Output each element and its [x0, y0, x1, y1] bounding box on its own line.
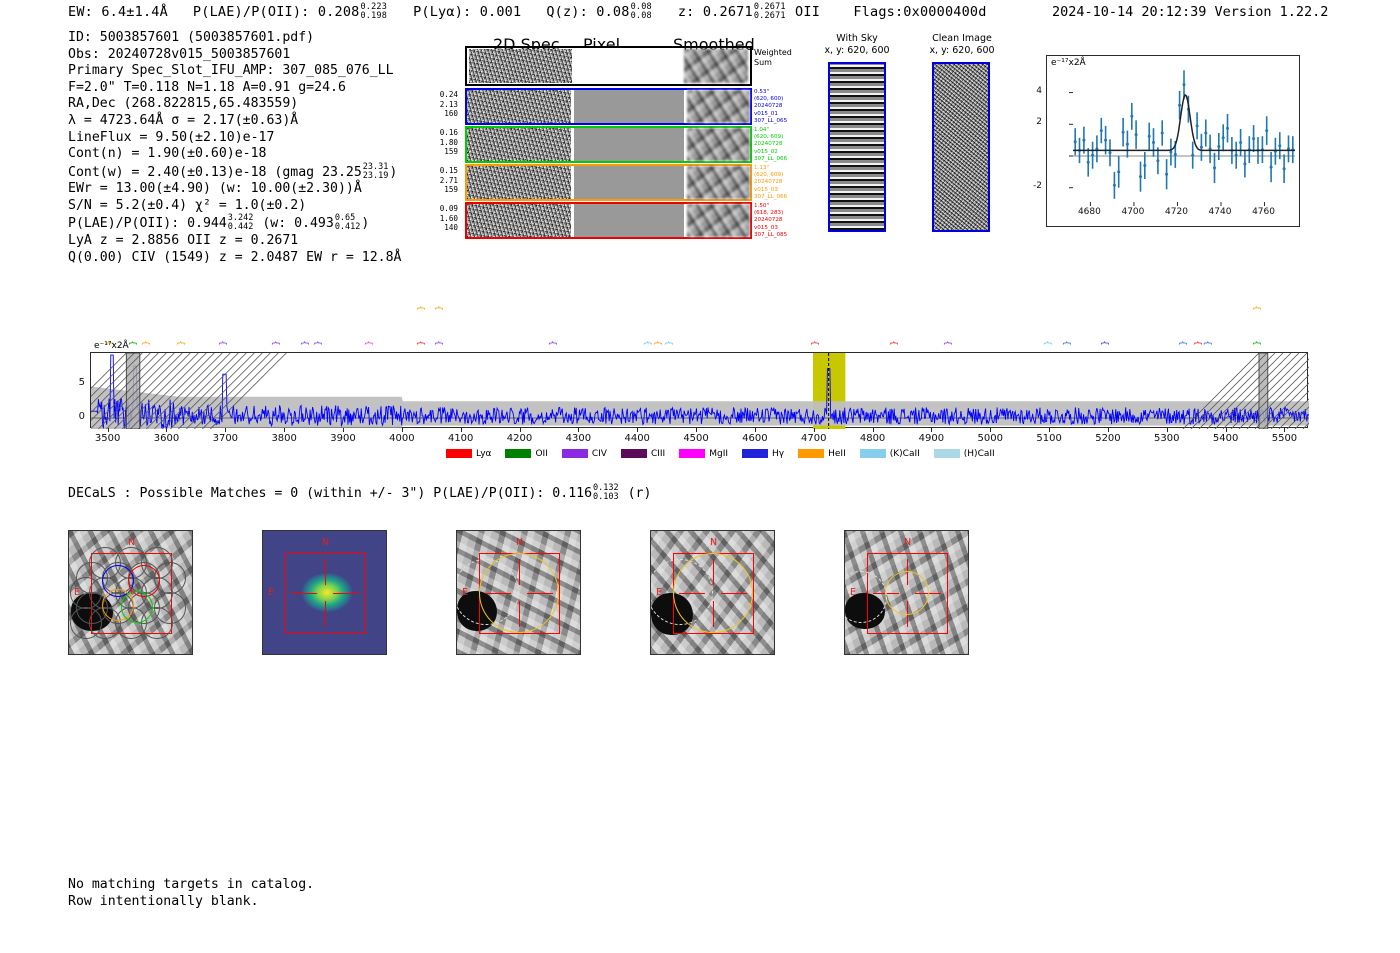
info-primary-spec: Primary Spec_Slot_IFU_AMP: 307_085_076_L…: [68, 63, 401, 80]
spectrum-xtick-mark: [696, 428, 697, 432]
spectrum-xtick-mark: [1167, 428, 1168, 432]
spectrum-legend-item: MgII: [679, 449, 728, 459]
cutout-aperture-circle: [885, 571, 929, 615]
spectrum-line-brace: {: [299, 340, 309, 346]
spectrum-line-brace: {: [312, 340, 322, 346]
fiber-metadata-line: 20240728: [754, 217, 787, 224]
fiber-metadata-line: 307_LL_085: [754, 232, 787, 239]
fiber-stat-value: 140: [432, 223, 458, 233]
spectrum-xtick-mark: [578, 428, 579, 432]
spectrum-xtick-mark: [1049, 428, 1050, 432]
zoom-plot-xtick: 4740: [1206, 207, 1234, 217]
spectrum-legend-item: OII: [505, 449, 547, 459]
spectrum-legend-item: CIII: [621, 449, 665, 459]
cutout-crosshair-h-left: [291, 593, 317, 594]
fiber-stats: 0.242.13160: [432, 90, 458, 119]
footer-note: No matching targets in catalog. Row inte…: [68, 876, 314, 910]
fiber-metadata-line: 1.50": [754, 203, 787, 210]
fiber-2dspec-image: [467, 166, 571, 199]
spectrum-xtick-mark: [814, 428, 815, 432]
fiber-metadata-line: (620, 600): [754, 96, 787, 103]
spectrum-xtick-mark: [108, 428, 109, 432]
spectrum-legend-swatch: [505, 449, 531, 458]
flags-value: Flags:0x0000400d: [853, 4, 986, 20]
fiber-metadata-line: 20240728: [754, 179, 787, 186]
spectrum-line-brace: {: [1177, 340, 1187, 346]
plae-lo: 0.198: [360, 11, 387, 21]
info-cont-w-pre: Cont(w) = 2.40(±0.13)e-18 (gmag 23.25: [68, 165, 362, 180]
clean-image-title: Clean Image x, y: 620, 600: [912, 33, 1012, 57]
fiber-metadata-line: 307_LL_066: [754, 156, 787, 163]
spectrum-line-brace: {: [662, 340, 672, 346]
fiber-metadata-line: 20240728: [754, 141, 787, 148]
spectrum-legend-swatch: [621, 449, 647, 458]
cutout-image[interactable]: NE: [844, 530, 969, 655]
zoom-plot-xtick: 4700: [1119, 207, 1147, 217]
spectrum-legend-label: (K)CaII: [890, 449, 920, 459]
spectrum-line-brace: {: [1061, 340, 1071, 346]
cutout-neighbor-circle: [650, 559, 713, 625]
info-sn: S/N = 5.2(±0.4) χ² = 1.0(±0.2): [68, 198, 401, 215]
spectrum-xtick: 3500: [86, 433, 130, 444]
zoom-plot-yunit: e⁻¹⁷x2Å: [1051, 58, 1086, 68]
fiber-metadata-line: 307_LL_065: [754, 118, 787, 125]
spectrum-legend-label: (H)CaII: [964, 449, 995, 459]
with-sky-image: [828, 62, 886, 232]
spectrum-line-brace: {: [1098, 340, 1108, 346]
fiber-stat-value: 0.24: [432, 90, 458, 100]
info-cont-w: Cont(w) = 2.40(±0.13)e-18 (gmag 23.2523.…: [68, 163, 401, 182]
spectrum-legend-item: (H)CaII: [934, 449, 995, 459]
fiber-pixelflat-image: [574, 204, 684, 237]
plae-value: 0.208: [318, 4, 360, 20]
spectrum-line-brace: {: [269, 340, 279, 346]
decals-summary-lo: 0.103: [593, 492, 619, 502]
fiber-stats: 0.161.80159: [432, 128, 458, 157]
fiber-metadata-line: v015_03: [754, 225, 787, 232]
zoom-plot-ytick: 2: [1026, 117, 1042, 127]
spectrum-line-brace: {: [1192, 340, 1202, 346]
fiber-stats: 0.152.71159: [432, 166, 458, 195]
cutout-north-label: N: [710, 537, 717, 548]
spectrum-xtick: 3600: [144, 433, 188, 444]
spectrum-line-brace: {: [432, 305, 442, 311]
fiber-stat-value: 2.13: [432, 100, 458, 110]
timestamp-version: 2024-10-14 20:12:39 Version 1.22.2: [1052, 4, 1328, 20]
fiber-metadata-line: v015_03: [754, 187, 787, 194]
fiber-stats: 0.091.60140: [432, 204, 458, 233]
spectrum-legend-swatch: [742, 449, 768, 458]
fiber-metadata-line: (618, 283): [754, 210, 787, 217]
spectrum-xtick: 5100: [1027, 433, 1071, 444]
spectrum-line-brace: {: [1251, 340, 1261, 346]
fiber-panel: [465, 88, 752, 125]
zoom-plot-xtick: 4760: [1250, 207, 1278, 217]
info-cont-n: Cont(n) = 1.90(±0.60)e-18: [68, 146, 401, 163]
spectrum-xtick-mark: [931, 428, 932, 432]
spectrum-legend-swatch: [446, 449, 472, 458]
spectrum-legend-item: Lyα: [446, 449, 491, 459]
spectrum-line-brace: {: [415, 305, 425, 311]
cutout-crosshair-h-right: [333, 593, 359, 594]
spectrum-legend-label: Hγ: [772, 449, 784, 459]
clean-image-subtitle: x, y: 620, 600: [912, 45, 1012, 57]
cutout-east-label: E: [268, 587, 274, 598]
spectrum-xtick-mark: [1284, 428, 1285, 432]
spectrum-line-brace: {: [432, 340, 442, 346]
spectrum-xtick: 5200: [1086, 433, 1130, 444]
cutout-crosshair-v-bot: [325, 601, 326, 627]
qz-label: Q(z):: [546, 4, 588, 20]
with-sky-subtitle: x, y: 620, 600: [812, 45, 902, 57]
fiber-pixelflat-image: [574, 128, 684, 161]
spectrum-legend-label: HeII: [828, 449, 846, 459]
spectrum-yunit: e⁻¹⁷x2Å: [94, 341, 129, 351]
cutout-north-label: N: [904, 537, 911, 548]
info-lambda: λ = 4723.64Å σ = 2.17(±0.63)Å: [68, 113, 401, 130]
spectrum-xtick-mark: [873, 428, 874, 432]
info-plae: P(LAE)/P(OII): 0.9443.2420.442 (w: 0.493…: [68, 214, 401, 233]
spectrum-ytick: 0: [72, 411, 85, 422]
qz-value: 0.08: [596, 4, 629, 20]
emission-line-zoom-plot: e⁻¹⁷x2Å: [1046, 55, 1300, 227]
fiber-metadata: 1.04"(620, 609)20240728v015_02307_LL_066: [754, 127, 787, 163]
spectrum-legend-label: Lyα: [476, 449, 491, 459]
ew-value: 6.4±1.4Å: [101, 4, 168, 20]
spectrum-legend-label: CIII: [651, 449, 665, 459]
spectrum-legend-item: Hγ: [742, 449, 784, 459]
spectrum-legend-item: (K)CaII: [860, 449, 920, 459]
spectrum-legend-swatch: [860, 449, 886, 458]
fiber-stat-value: 1.80: [432, 138, 458, 148]
spectrum-xtick: 3700: [203, 433, 247, 444]
fiber-smoothed-image: [687, 166, 750, 199]
info-cont-w-post: ): [389, 165, 397, 180]
spectrum-line-brace: {: [363, 340, 373, 346]
fiber-metadata-line: (620, 609): [754, 134, 787, 141]
decals-summary-line: DECaLS : Possible Matches = 0 (within +/…: [68, 484, 651, 502]
cutout-north-label: N: [516, 537, 523, 548]
info-obs: Obs: 20240728v015_5003857601: [68, 47, 401, 64]
spectrum-xtick-mark: [166, 428, 167, 432]
fiber-metadata-line: 20240728: [754, 103, 787, 110]
spectrum-xtick-mark: [343, 428, 344, 432]
cutout-north-label: N: [322, 537, 329, 548]
cutout-image[interactable]: NE: [650, 530, 775, 655]
fiber-stat-value: 2.71: [432, 176, 458, 186]
z-value: 0.2671: [703, 4, 753, 20]
spectrum-xtick: 5500: [1262, 433, 1306, 444]
info-plae-post: ): [361, 216, 369, 231]
clean-image-title-text: Clean Image: [912, 33, 1012, 45]
fiber-2dspec-image: [467, 204, 571, 237]
fiber-panel: [465, 164, 752, 201]
fiber-metadata: 1.50"(618, 283)20240728v015_03307_LL_085: [754, 203, 787, 239]
spectrum-legend-label: MgII: [709, 449, 728, 459]
spectrum-xtick-mark: [284, 428, 285, 432]
cutout-image[interactable]: NE+: [68, 530, 193, 655]
info-redshifts: LyA z = 2.8856 OII z = 0.2671: [68, 233, 401, 250]
full-spectrum-plot: e⁻¹⁷x2Å: [90, 352, 1308, 428]
spectrum-line-brace: {: [1202, 340, 1212, 346]
zoom-plot-ytick: 4: [1026, 86, 1042, 96]
spectrum-legend: LyαOIICIVCIIIMgIIHγHeII(K)CaII(H)CaII: [446, 443, 1009, 462]
spectrum-xtick: 3900: [321, 433, 365, 444]
fiber-smoothed-image: [687, 128, 750, 161]
info-q-line: Q(0.00) CIV (1549) z = 2.0487 EW r = 12.…: [68, 250, 401, 267]
clean-image: [932, 62, 990, 232]
z-type: OII: [795, 4, 820, 20]
fiber-metadata-line: v015_01: [754, 111, 787, 118]
footer-line-1: No matching targets in catalog.: [68, 876, 314, 893]
qz-lo: 0.08: [631, 11, 652, 21]
spectrum-line-brace: {: [652, 340, 662, 346]
fiber-stat-value: 159: [432, 185, 458, 195]
fiber-metadata-line: 1.13": [754, 165, 787, 172]
spectrum-legend-swatch: [798, 449, 824, 458]
spectrum-xtick-mark: [637, 428, 638, 432]
decals-summary-pre: DECaLS : Possible Matches = 0 (within +/…: [68, 486, 592, 501]
header-summary-line: EW: 6.4±1.4Å P(LAE)/P(OII): 0.2080.2230.…: [68, 3, 987, 21]
fiber-pixelflat-image: [574, 166, 684, 199]
cutout-center-marker: +: [128, 587, 136, 597]
fiber-panel: [465, 202, 752, 239]
ew-label: EW:: [68, 4, 93, 20]
spectrum-legend-swatch: [934, 449, 960, 458]
cutout-neighbor-circle: [456, 559, 519, 625]
spectrum-line-brace: {: [942, 340, 952, 346]
fiber-stat-value: 159: [432, 147, 458, 157]
fiber-metadata-line: v015_02: [754, 149, 787, 156]
zoom-plot-xtick: 4680: [1075, 207, 1103, 217]
fiber-metadata: 0.53"(620, 600)20240728v015_01307_LL_065: [754, 89, 787, 125]
spectrum-ytick: 5: [72, 377, 85, 388]
fiber-2dspec-image: [467, 90, 571, 123]
fiber-stat-value: 0.09: [432, 204, 458, 214]
fiber-2dspec-image: [467, 128, 571, 161]
spectrum-xtick: 4000: [380, 433, 424, 444]
spectrum-legend-label: OII: [535, 449, 547, 459]
info-plae-lo: 0.442: [228, 222, 254, 232]
fiber-stat-value: 0.15: [432, 166, 458, 176]
fiber-metadata-line: 1.04": [754, 127, 787, 134]
plae-label: P(LAE)/P(OII):: [193, 4, 310, 20]
info-seeing: F=2.0" T=0.118 N=1.18 A=0.91 g=24.6: [68, 80, 401, 97]
with-sky-title-text: With Sky: [812, 33, 902, 45]
spectrum-line-brace: {: [415, 340, 425, 346]
fiber-stat-value: 160: [432, 109, 458, 119]
spectrum-legend-item: CIV: [562, 449, 607, 459]
fiber-pixelflat-image: [574, 90, 684, 123]
spectrum-xtick-mark: [402, 428, 403, 432]
weighted-sum-label: Weighted Sum: [754, 48, 792, 68]
spectrum-xtick-mark: [1226, 428, 1227, 432]
fiber-stat-value: 1.60: [432, 214, 458, 224]
spectrum-line-brace: {: [1042, 340, 1052, 346]
fiber-smoothed-image: [687, 90, 750, 123]
with-sky-title: With Sky x, y: 620, 600: [812, 33, 902, 57]
fiber-metadata-line: 0.53": [754, 89, 787, 96]
zoom-plot-xtick: 4720: [1162, 207, 1190, 217]
decals-summary-post: (r): [628, 486, 652, 501]
footer-line-2: Row intentionally blank.: [68, 893, 314, 910]
z-label: z:: [678, 4, 695, 20]
weighted-sum-label-l1: Weighted: [754, 48, 792, 58]
spectrum-line-brace: {: [888, 340, 898, 346]
fiber-metadata-line: (620, 609): [754, 172, 787, 179]
info-cont-w-lo: 23.19: [363, 171, 389, 181]
spectrum-line-brace: {: [1251, 305, 1261, 311]
fiber-panel: [465, 126, 752, 163]
info-plae-mid: (w: 0.493: [262, 216, 333, 231]
fiber-metadata-line: 307_LL_066: [754, 194, 787, 201]
cutout-crosshair-v-top: [325, 559, 326, 585]
spectrum-legend-item: HeII: [798, 449, 846, 459]
info-lineflux: LineFlux = 9.50(±2.10)e-17: [68, 130, 401, 147]
fiber-circle-green: [121, 591, 153, 623]
spectrum-line-brace: {: [808, 340, 818, 346]
info-plae-w-lo: 0.412: [335, 222, 361, 232]
spectrum-legend-swatch: [562, 449, 588, 458]
spectrum-line-brace: {: [642, 340, 652, 346]
zoom-plot-ytick: -2: [1026, 181, 1042, 191]
spectrum-line-brace: {: [547, 340, 557, 346]
spectrum-line-brace: {: [140, 340, 150, 346]
spectrum-xtick-mark: [520, 428, 521, 432]
plya-label: P(Lyα):: [413, 4, 471, 20]
info-ewr: EWr = 13.00(±4.90) (w: 10.00(±2.30))Å: [68, 181, 401, 198]
fiber-stat-value: 0.16: [432, 128, 458, 138]
weighted-sum-label-l2: Sum: [754, 58, 792, 68]
plya-value: 0.001: [480, 4, 522, 20]
spectrum-xtick-mark: [1108, 428, 1109, 432]
detection-info-block: ID: 5003857601 (5003857601.pdf) Obs: 202…: [68, 30, 401, 266]
z-lo: 0.2671: [754, 11, 786, 21]
cutout-image[interactable]: NE: [262, 530, 387, 655]
spectrum-legend-label: CIV: [592, 449, 607, 459]
spectrum-xtick: 3800: [262, 433, 306, 444]
info-id: ID: 5003857601 (5003857601.pdf): [68, 30, 401, 47]
fiber-smoothed-image: [687, 204, 750, 237]
spectrum-xtick-mark: [990, 428, 991, 432]
spectrum-xtick: 5400: [1204, 433, 1248, 444]
spectrum-xtick: 5300: [1145, 433, 1189, 444]
spectrum-line-brace: {: [175, 340, 185, 346]
fiber-circle: [70, 577, 102, 609]
spectrum-line-brace: {: [216, 340, 226, 346]
spectrum-xtick-mark: [461, 428, 462, 432]
fiber-circle: [70, 607, 102, 639]
fiber-metadata: 1.13"(620, 609)20240728v015_03307_LL_066: [754, 165, 787, 201]
spectrum-legend-swatch: [679, 449, 705, 458]
spectrum-xtick-mark: [755, 428, 756, 432]
info-radec: RA,Dec (268.822815,65.483559): [68, 96, 401, 113]
spectrum-xtick-mark: [225, 428, 226, 432]
info-plae-pre: P(LAE)/P(OII): 0.944: [68, 216, 227, 231]
weighted-sum-strip: [465, 46, 752, 86]
cutout-image[interactable]: NE: [456, 530, 581, 655]
